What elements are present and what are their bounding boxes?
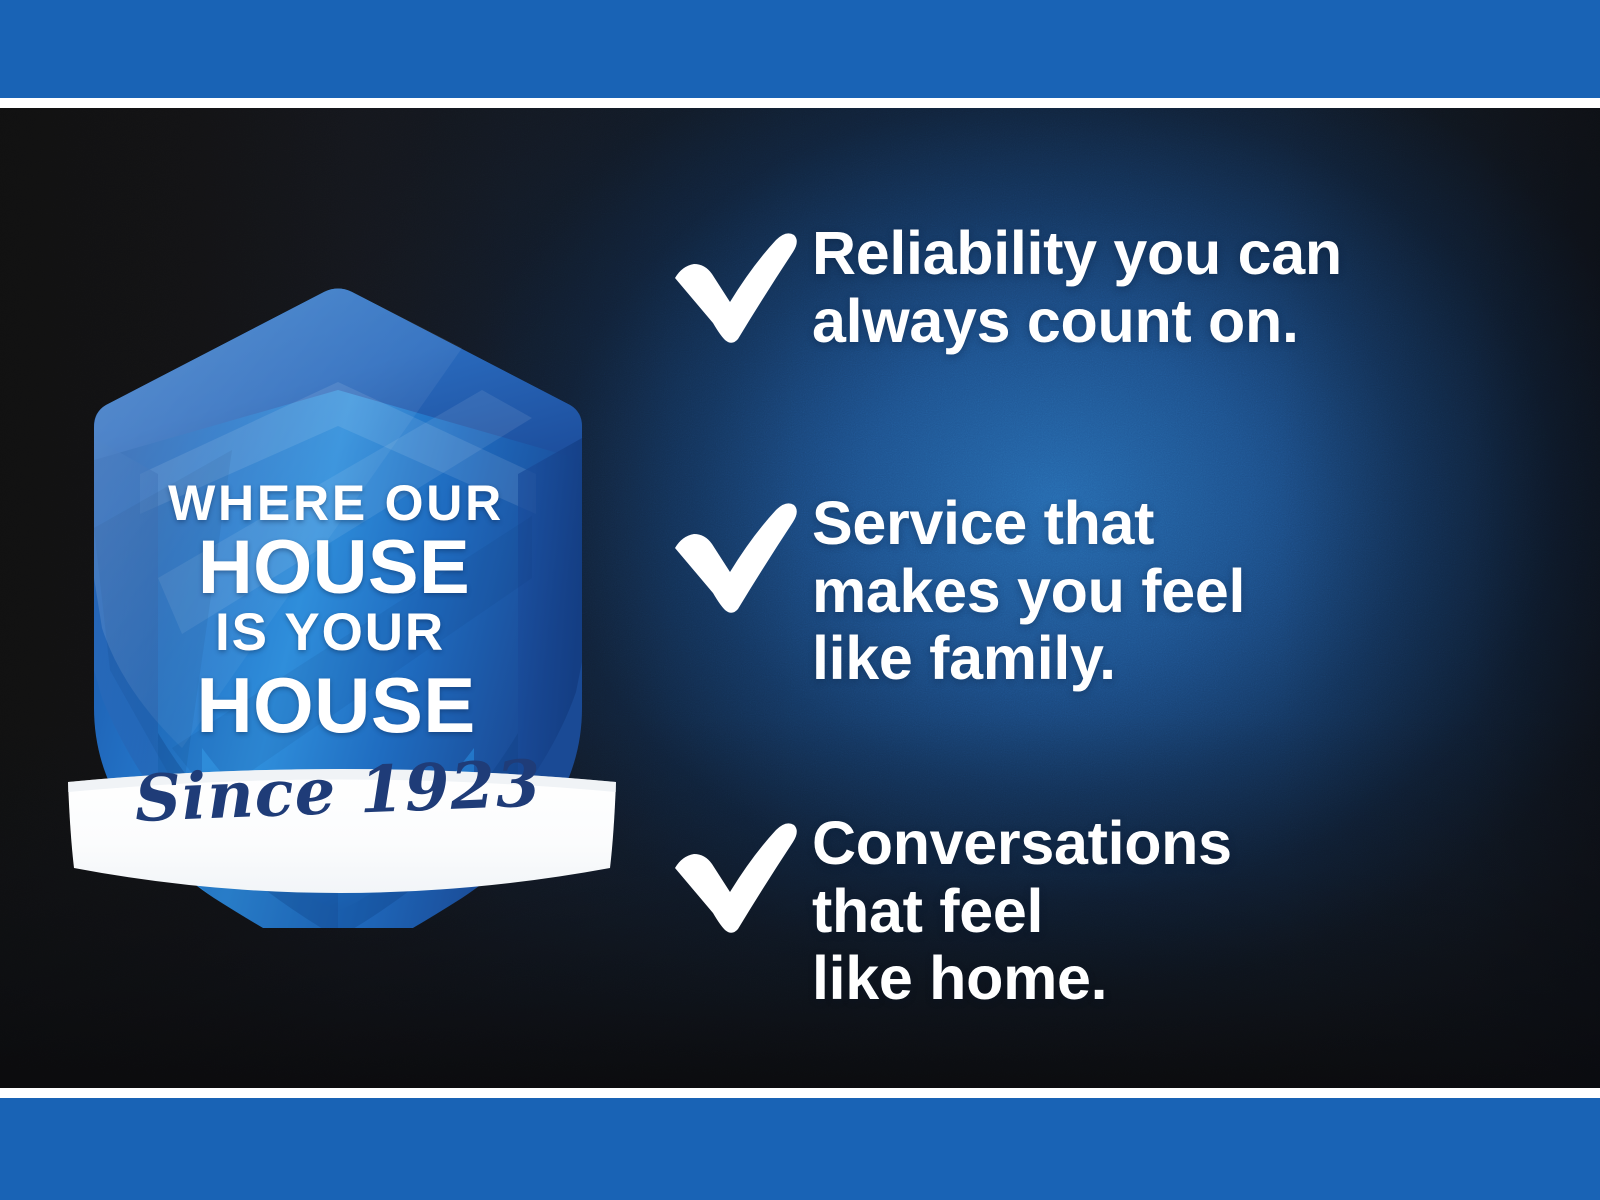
list-item-text: Conversations that feel like home. [812, 808, 1492, 1013]
promo-banner: WHERE OUR HOUSE IS YOUR HOUSE Since 1923… [0, 0, 1600, 1200]
badge-line-2: HOUSE [54, 530, 614, 606]
list-item-text: Reliability you can always count on. [812, 218, 1492, 355]
list-item-text: Service that makes you feel like family. [812, 488, 1492, 693]
list-item-line: makes you feel [812, 558, 1492, 626]
check-icon [672, 488, 812, 614]
list-item: Conversations that feel like home. [672, 808, 1492, 1013]
badge-line-3: IS YOUR [50, 606, 610, 659]
list-item: Reliability you can always count on. [672, 218, 1492, 355]
list-item: Service that makes you feel like family. [672, 488, 1492, 693]
list-item-line: like family. [812, 625, 1492, 693]
list-item-line: Reliability you can [812, 220, 1492, 288]
badge-line-4: HOUSE [56, 666, 616, 744]
list-item-line: Service that [812, 490, 1492, 558]
badge-line-1: WHERE OUR [56, 478, 616, 528]
list-item-line: always count on. [812, 288, 1492, 356]
bottom-brand-bar [0, 1098, 1600, 1200]
shield-badge: WHERE OUR HOUSE IS YOUR HOUSE Since 1923 [62, 278, 622, 928]
check-icon [672, 218, 812, 344]
list-item-line: Conversations [812, 810, 1492, 878]
list-item-line: like home. [812, 945, 1492, 1013]
top-brand-bar [0, 0, 1600, 98]
check-icon [672, 808, 812, 934]
content-stage: WHERE OUR HOUSE IS YOUR HOUSE Since 1923… [0, 108, 1600, 1088]
list-item-line: that feel [812, 878, 1492, 946]
